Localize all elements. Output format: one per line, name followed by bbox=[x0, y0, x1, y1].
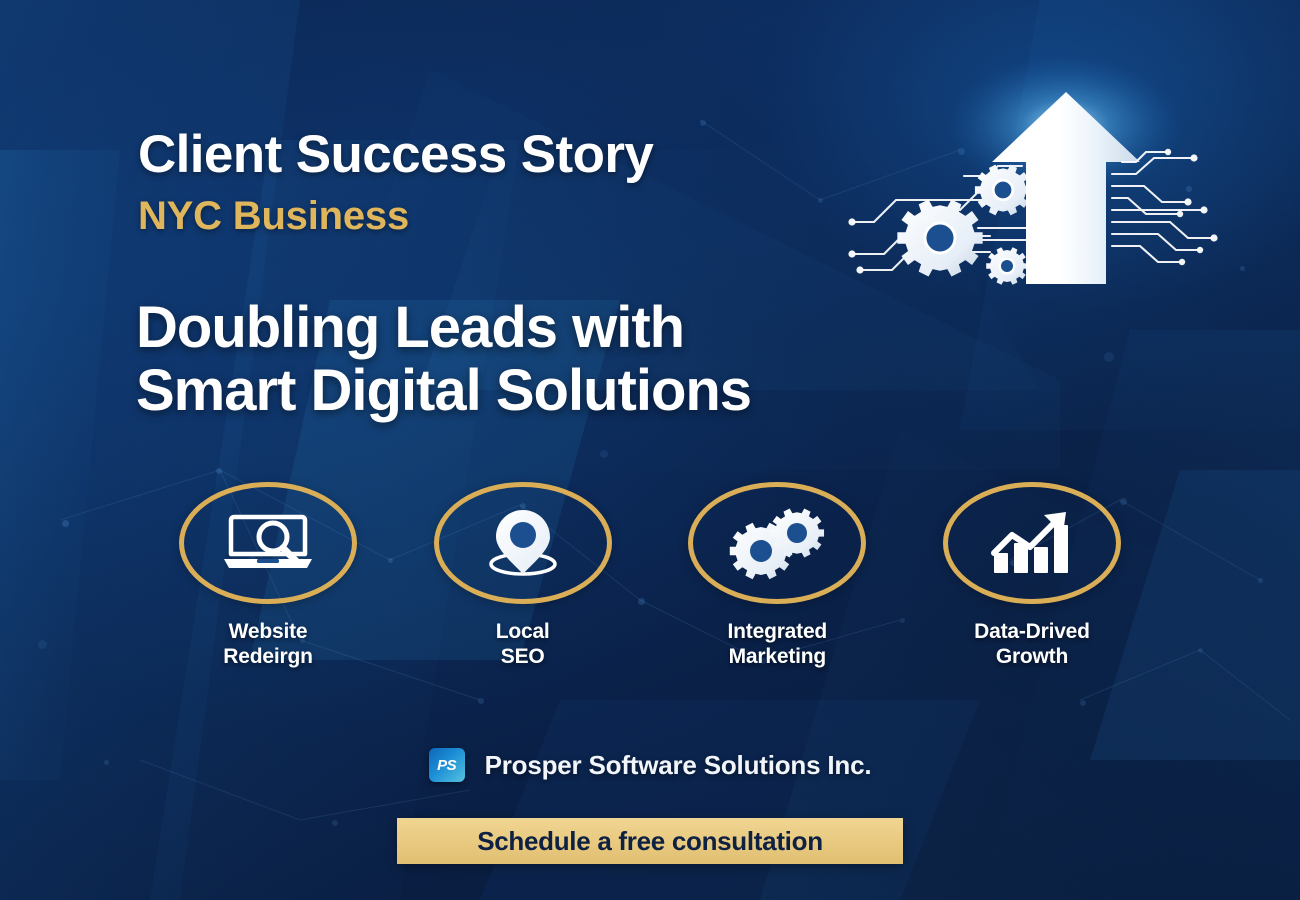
map-pin-icon bbox=[481, 506, 565, 580]
page-title: Client Success Story bbox=[138, 128, 898, 181]
gears-icon bbox=[725, 505, 829, 581]
feature-ring bbox=[688, 482, 866, 604]
feature-label: Local SEO bbox=[496, 620, 550, 669]
feature-list: Website Redeirgn bbox=[160, 482, 1140, 669]
feature-item-data-driven-growth[interactable]: Data-Drived Growth bbox=[924, 482, 1140, 669]
feature-label: Website Redeirgn bbox=[223, 620, 312, 669]
feature-item-integrated-marketing[interactable]: Integrated Marketing bbox=[669, 482, 885, 669]
laptop-magnifier-icon bbox=[220, 509, 316, 577]
headline-line-1: Doubling Leads with bbox=[136, 295, 684, 360]
feature-item-local-seo[interactable]: Local SEO bbox=[415, 482, 631, 669]
feature-ring bbox=[943, 482, 1121, 604]
bar-chart-arrow-icon bbox=[986, 509, 1078, 577]
feature-ring bbox=[434, 482, 612, 604]
feature-ring bbox=[179, 482, 357, 604]
ps-logo-icon: PS bbox=[429, 748, 465, 782]
headline-block: Client Success Story NYC Business bbox=[138, 128, 898, 236]
cta-container: Schedule a free consultation bbox=[0, 818, 1300, 864]
company-name: Prosper Software Solutions Inc. bbox=[485, 750, 872, 781]
feature-label: Integrated Marketing bbox=[728, 620, 828, 669]
feature-label: Data-Drived Growth bbox=[974, 620, 1090, 669]
poster-canvas: Client Success Story NYC Business Doubli… bbox=[0, 0, 1300, 900]
headline-line-2: Smart Digital Solutions bbox=[136, 360, 1016, 423]
main-headline: Doubling Leads with Smart Digital Soluti… bbox=[136, 297, 1016, 422]
brand-row: PS Prosper Software Solutions Inc. bbox=[0, 748, 1300, 782]
ps-logo-text: PS bbox=[437, 757, 456, 774]
schedule-consultation-button[interactable]: Schedule a free consultation bbox=[397, 818, 903, 864]
page-subtitle: NYC Business bbox=[138, 196, 898, 236]
upward-arrow-gears-circuit-icon bbox=[840, 78, 1240, 303]
feature-item-website-redesign[interactable]: Website Redeirgn bbox=[160, 482, 376, 669]
